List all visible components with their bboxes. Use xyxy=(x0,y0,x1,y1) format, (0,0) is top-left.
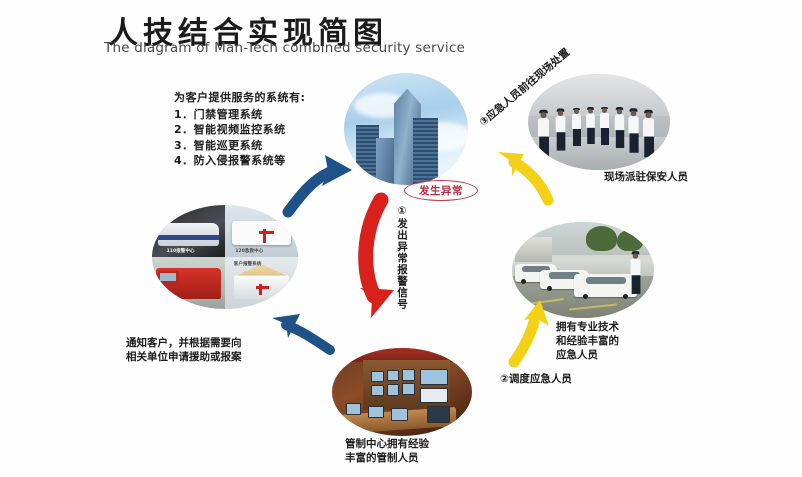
photo-skyscraper xyxy=(344,73,468,185)
quadrant-police: 110报警中心 xyxy=(152,205,225,257)
tower-small xyxy=(376,138,393,185)
photo-security-guards-formation xyxy=(528,74,670,170)
step-2-label: ②调度应急人员 xyxy=(500,371,572,386)
caption-line: 丰富的管制人员 xyxy=(345,451,429,465)
building-wall xyxy=(515,237,552,262)
guard-figure xyxy=(538,110,549,157)
guard-figure xyxy=(572,108,581,147)
guard-figure xyxy=(614,108,623,148)
photo-patrol-cars xyxy=(512,222,654,318)
wall-screen-large xyxy=(420,369,448,385)
wall-monitor xyxy=(402,383,415,394)
list-item: 3．智能巡更系统 xyxy=(174,138,305,154)
systems-list: 1．门禁管理系统 2．智能视频监控系统 3．智能巡更系统 4．防入侵报警系统等 xyxy=(174,107,305,169)
fire-truck xyxy=(156,268,220,298)
caption-notify-client: 通知客户，并根据需要向 相关单位申请援助或报案 xyxy=(126,336,242,364)
caption-line: 管制中心拥有经验 xyxy=(345,437,429,451)
page-title-en: The diagram of Man-Tech combined securit… xyxy=(104,40,465,56)
caption-line: 相关单位申请援助或报案 xyxy=(126,350,242,364)
caption-emergency-staff: 拥有专业技术 和经验丰富的 应急人员 xyxy=(556,320,619,362)
palm-tree xyxy=(617,230,643,251)
systems-list-block: 为客户提供服务的系统有: 1．门禁管理系统 2．智能视频监控系统 3．智能巡更系… xyxy=(174,90,305,169)
caption-line: 拥有专业技术 xyxy=(556,320,619,334)
arrow-blue-to-notify xyxy=(272,314,330,350)
desk-monitor xyxy=(391,408,408,421)
quadrant-ambulance: 120急救中心 xyxy=(225,205,298,257)
guard-figure xyxy=(643,110,654,157)
guard-figure xyxy=(556,109,566,151)
wall-monitor xyxy=(387,384,400,395)
palm-tree xyxy=(586,226,617,251)
list-item: 1．门禁管理系统 xyxy=(174,107,305,123)
tower-right xyxy=(413,118,438,185)
caption-line: 通知客户，并根据需要向 xyxy=(126,336,242,350)
wall-monitor xyxy=(402,369,415,380)
quadrant-client-site: 客户报警系统 xyxy=(225,257,298,309)
guard-figure xyxy=(586,107,595,144)
desk-monitor xyxy=(368,406,383,418)
abnormal-event-label: 发生异常 xyxy=(419,183,463,198)
wall-monitor xyxy=(387,370,400,381)
desk-monitor xyxy=(346,403,361,415)
photo-label-client-system: 客户报警系统 xyxy=(234,261,262,267)
client-building xyxy=(234,275,289,299)
guard-figure xyxy=(628,109,638,153)
quadrant-fire-truck xyxy=(152,257,225,309)
caption-line: 应急人员 xyxy=(556,348,619,362)
ambulance xyxy=(232,221,290,245)
desk-monitor xyxy=(427,406,449,423)
wall-monitor xyxy=(371,371,384,382)
photo-label-police-center: 110报警中心 xyxy=(167,248,195,254)
wall-screen-large xyxy=(420,388,448,402)
caption-guards: 现场派驻保安人员 xyxy=(604,170,688,184)
guard-figure xyxy=(600,107,609,146)
photo-label-medical-center: 120急救中心 xyxy=(235,248,263,254)
photo-emergency-services-collage: 110报警中心 120急救中心 客户报警系统 xyxy=(152,205,298,309)
diagram-canvas: 人技结合实现简图 The diagram of Man-Tech combine… xyxy=(0,0,802,477)
list-item: 4．防入侵报警系统等 xyxy=(174,153,305,169)
arrow-red-alarm-signal xyxy=(360,200,394,318)
guard-figure xyxy=(631,251,641,293)
list-item: 2．智能视频监控系统 xyxy=(174,122,305,138)
abnormal-event-badge: 发生异常 xyxy=(404,180,478,201)
step-1-label: ①发出异常报警信号 xyxy=(392,205,408,310)
police-car xyxy=(158,223,219,246)
caption-control-center: 管制中心拥有经验 丰富的管制人员 xyxy=(345,437,429,465)
photo-control-room xyxy=(332,348,472,436)
wall-monitor xyxy=(371,385,384,396)
patrol-car xyxy=(574,274,636,297)
systems-list-heading: 为客户提供服务的系统有: xyxy=(174,90,305,106)
caption-line: 和经验丰富的 xyxy=(556,334,619,348)
